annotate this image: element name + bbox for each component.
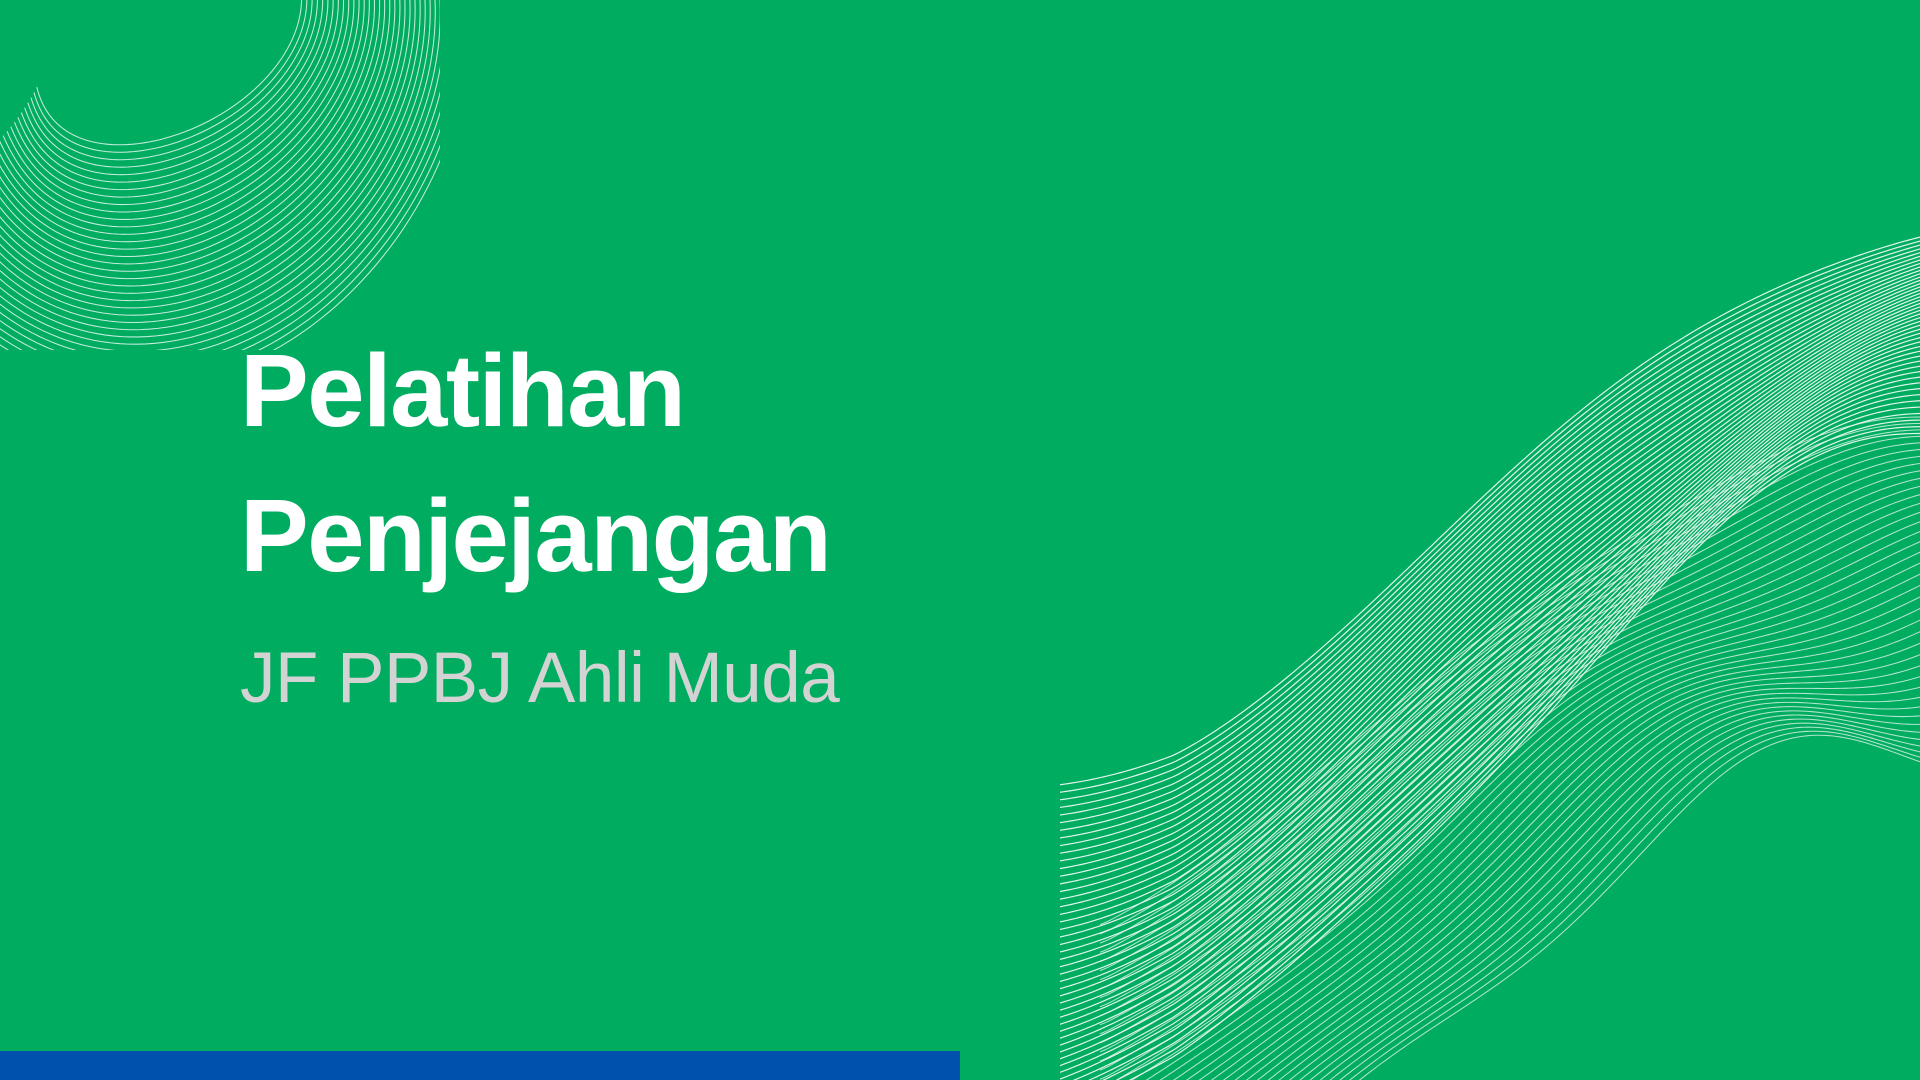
- wave-lines-pattern-large-icon: [1060, 200, 1920, 1080]
- slide-text-block: Pelatihan Penjejangan JF PPBJ Ahli Muda: [240, 318, 1140, 720]
- accent-bar: [0, 1051, 960, 1080]
- page-subtitle: JF PPBJ Ahli Muda: [240, 608, 1140, 720]
- wave-lines-pattern-icon: [0, 0, 440, 350]
- title-slide: Pelatihan Penjejangan JF PPBJ Ahli Muda: [0, 0, 1920, 1080]
- page-title: Pelatihan Penjejangan: [240, 318, 1140, 608]
